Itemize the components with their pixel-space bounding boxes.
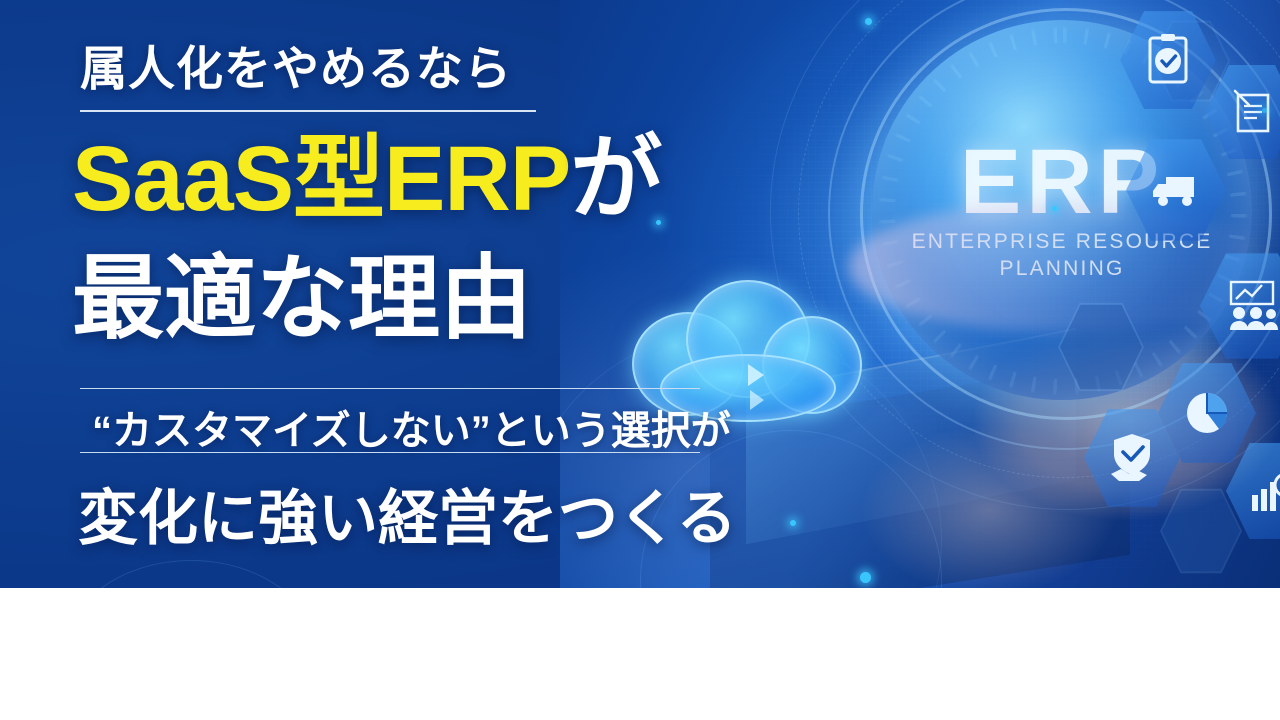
footer-bar: WEBINAR 2025 11.28 Fri 11:00 – 12:00 マジ …	[0, 588, 1280, 720]
main-headline-line1: SaaS型ERPが	[72, 133, 661, 225]
kicker-divider	[80, 110, 536, 112]
webinar-banner: ERP ENTERPRISE RESOURCE PLANNING	[0, 0, 1280, 720]
headline-particle: が	[570, 128, 661, 230]
hero-section: ERP ENTERPRISE RESOURCE PLANNING	[0, 0, 1280, 588]
main-headline-line2: 最適な理由	[72, 253, 532, 345]
closing-text: 変化に強い経営をつくる	[78, 470, 737, 557]
subtitle-text: “カスタマイズしない”という選択が	[92, 398, 731, 456]
headline-highlight: SaaS型ERP	[72, 128, 570, 230]
kicker-text: 属人化をやめるなら	[80, 30, 512, 99]
headline-block: 属人化をやめるなら SaaS型ERPが 最適な理由 “カスタマイズしない”という…	[0, 0, 880, 588]
subtitle-divider-top	[80, 388, 700, 389]
subtitle-divider-bottom	[80, 452, 700, 453]
erp-subtitle-line2: PLANNING	[1000, 257, 1125, 281]
glow-dot	[1262, 108, 1267, 113]
